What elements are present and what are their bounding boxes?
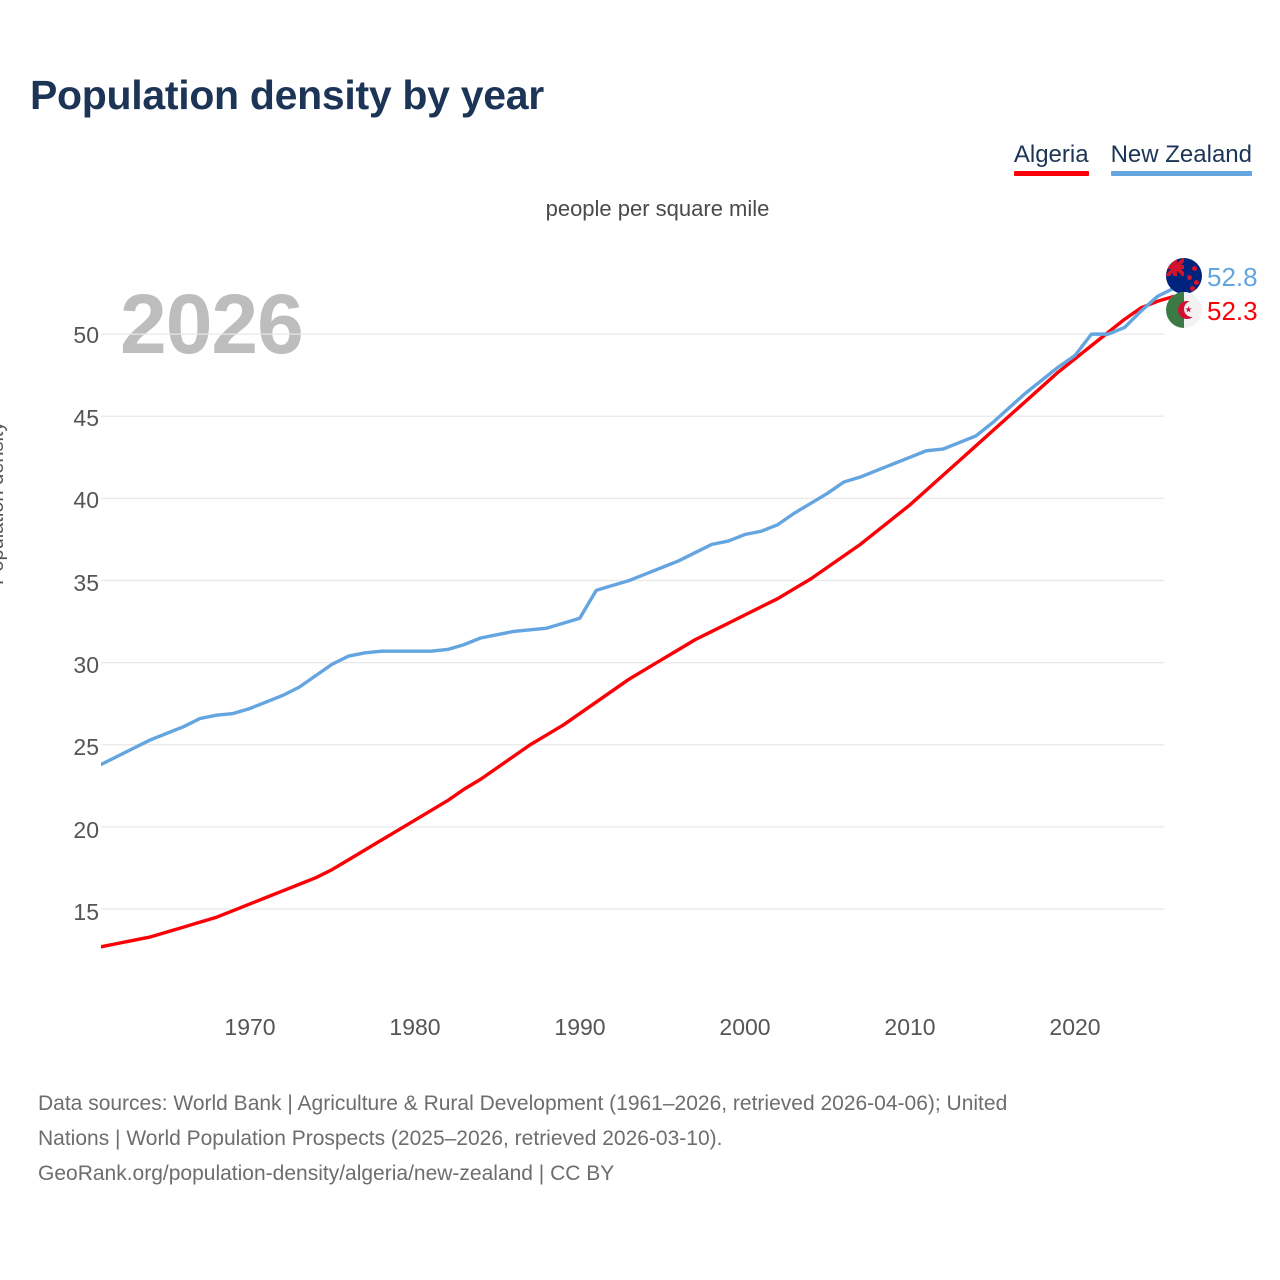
- footer-line-2: Nations | World Population Prospects (20…: [38, 1121, 1253, 1156]
- series-line-algeria: [101, 296, 1174, 946]
- chart-legend: Algeria New Zealand: [1014, 142, 1252, 176]
- legend-item-algeria[interactable]: Algeria: [1014, 142, 1089, 176]
- footer-sources: Data sources: World Bank | Agriculture &…: [38, 1086, 1253, 1191]
- legend-color-swatch-algeria: [1014, 171, 1089, 176]
- y-tick-label: 40: [73, 487, 99, 514]
- y-tick-label: 50: [73, 322, 99, 349]
- x-tick-label: 1980: [389, 1014, 440, 1041]
- legend-label-algeria: Algeria: [1014, 142, 1089, 168]
- line-chart-plot: [101, 275, 1174, 955]
- series-line-new-zealand: [101, 288, 1174, 764]
- data-series-layer: [101, 276, 1174, 947]
- union-jack: [1166, 258, 1184, 276]
- footer-line-3: GeoRank.org/population-density/algeria/n…: [38, 1156, 1253, 1191]
- x-tick-label: 1990: [554, 1014, 605, 1041]
- footer-line-1: Data sources: World Bank | Agriculture &…: [38, 1086, 1253, 1121]
- y-tick-label: 15: [73, 899, 99, 926]
- chart-page: Population density by year Algeria New Z…: [0, 0, 1280, 1280]
- algeria-flag-icon: [1166, 292, 1202, 328]
- legend-color-swatch-new-zealand: [1111, 171, 1252, 176]
- y-tick-label: 20: [73, 817, 99, 844]
- legend-item-new-zealand[interactable]: New Zealand: [1111, 142, 1252, 176]
- legend-label-new-zealand: New Zealand: [1111, 142, 1252, 168]
- chart-subtitle: people per square mile: [0, 196, 1280, 222]
- x-tick-label: 2010: [884, 1014, 935, 1041]
- end-label-algeria: 52.3: [1207, 296, 1258, 327]
- x-tick-label: 1970: [224, 1014, 275, 1041]
- y-tick-label: 25: [73, 734, 99, 761]
- y-axis-label: Population density: [0, 422, 9, 585]
- page-title: Population density by year: [30, 72, 544, 119]
- y-tick-label: 35: [73, 570, 99, 597]
- x-tick-label: 2020: [1049, 1014, 1100, 1041]
- y-tick-label: 30: [73, 652, 99, 679]
- y-tick-label: 45: [73, 405, 99, 432]
- x-tick-label: 2000: [719, 1014, 770, 1041]
- end-label-new-zealand: 52.8: [1207, 262, 1258, 293]
- new-zealand-flag-icon: [1166, 258, 1202, 294]
